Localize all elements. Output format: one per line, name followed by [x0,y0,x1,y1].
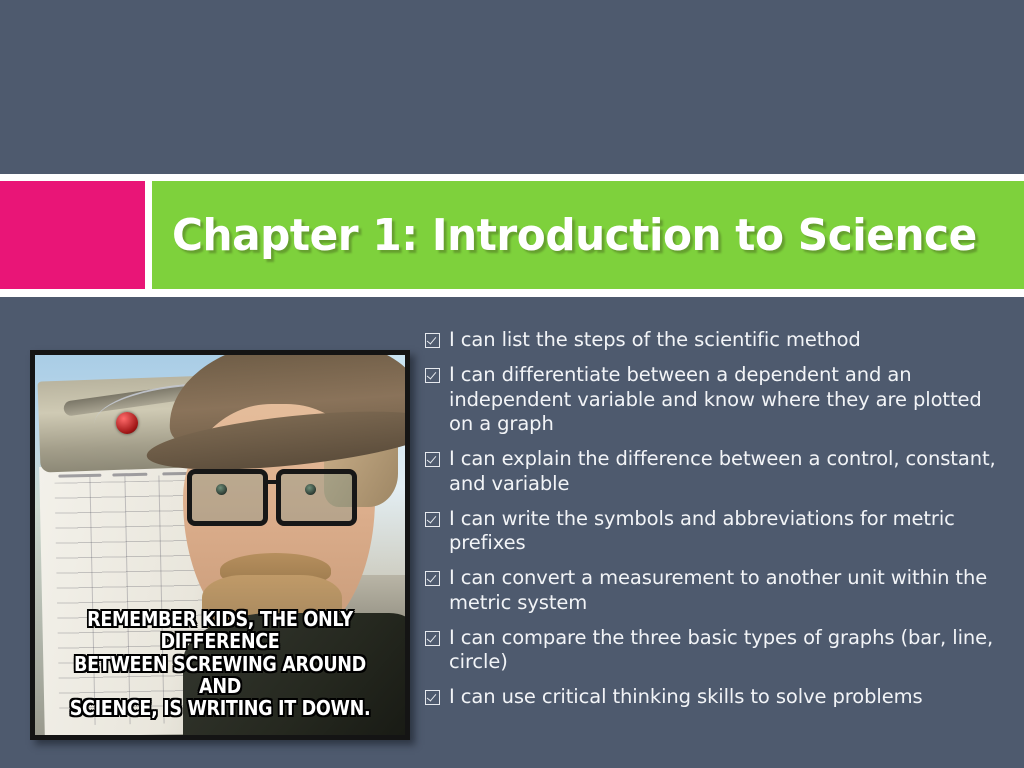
meme-caption-line-1: REMEMBER KIDS, THE ONLY DIFFERENCE [57,608,383,653]
checked-checkbox-icon [425,452,440,467]
list-item: I can explain the difference between a c… [425,447,1010,497]
list-item-label: I can use critical thinking skills to so… [449,685,1010,710]
meme-caption-line-2: BETWEEN SCREWING AROUND AND [57,653,383,698]
meme-image: REMEMBER KIDS, THE ONLY DIFFERENCE BETWE… [30,350,410,740]
list-item: I can compare the three basic types of g… [425,626,1010,676]
eyeglasses-left-lens [187,469,268,526]
checked-checkbox-icon [425,571,440,586]
checked-checkbox-icon [425,368,440,383]
list-item: I can convert a measurement to another u… [425,566,1010,616]
checked-checkbox-icon [425,631,440,646]
eyeglasses-right-lens [276,469,357,526]
list-item-label: I can explain the difference between a c… [449,447,1010,497]
slide-canvas: Chapter 1: Introduction to Science [0,0,1024,768]
list-item-label: I can differentiate between a dependent … [449,363,1010,437]
checked-checkbox-icon [425,333,440,348]
list-item-label: I can write the symbols and abbreviation… [449,507,1010,557]
meme-caption-line-3: SCIENCE, IS WRITING IT DOWN. [57,697,383,719]
meme-image-scene: REMEMBER KIDS, THE ONLY DIFFERENCE BETWE… [35,355,405,735]
list-item-label: I can compare the three basic types of g… [449,626,1010,676]
list-item: I can list the steps of the scientific m… [425,328,1010,353]
handwriting-mark [59,474,101,478]
list-item: I can differentiate between a dependent … [425,363,1010,437]
list-item: I can use critical thinking skills to so… [425,685,1010,710]
list-item-label: I can convert a measurement to another u… [449,566,1010,616]
meme-caption: REMEMBER KIDS, THE ONLY DIFFERENCE BETWE… [57,608,383,720]
checked-checkbox-icon [425,512,440,527]
checked-checkbox-icon [425,690,440,705]
list-item: I can write the symbols and abbreviation… [425,507,1010,557]
handwriting-mark [113,473,148,477]
title-accent-block [0,181,145,289]
list-item-label: I can list the steps of the scientific m… [449,328,1010,353]
objectives-list: I can list the steps of the scientific m… [425,328,1010,720]
page-title: Chapter 1: Introduction to Science [172,181,990,289]
eyeglasses-bridge [266,480,281,484]
slide-content: REMEMBER KIDS, THE ONLY DIFFERENCE BETWE… [0,297,1024,768]
